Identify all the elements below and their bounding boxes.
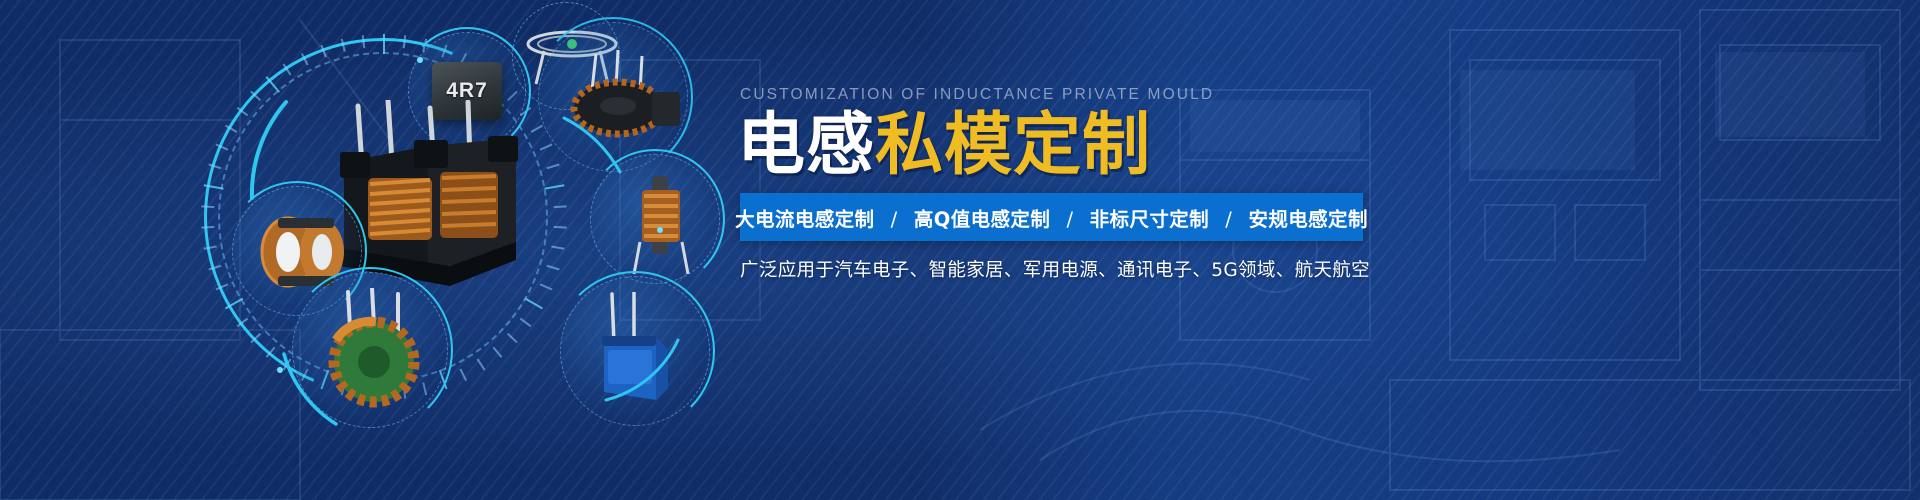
service-item-1[interactable]: 高Q值电感定制 — [914, 208, 1050, 231]
service-item-2[interactable]: 非标尺寸定制 — [1090, 208, 1209, 231]
services-bar[interactable]: 大电流电感定制 / 高Q值电感定制 / 非标尺寸定制 / 安规电感定制 — [740, 193, 1363, 241]
tech-accent-arcs — [160, 0, 720, 500]
service-separator-1: / — [1057, 208, 1082, 231]
banner-description: 广泛应用于汽车电子、智能家居、军用电源、通讯电子、5G领域、航天航空 — [740, 256, 1370, 282]
headline-gold-part: 私模定制 — [875, 106, 1151, 185]
banner-eyebrow-english: CUSTOMIZATION OF INDUCTANCE PRIVATE MOUL… — [740, 86, 1214, 104]
banner-text-content: CUSTOMIZATION OF INDUCTANCE PRIVATE MOUL… — [737, 0, 1437, 500]
service-separator-2: / — [1216, 208, 1241, 231]
services-bar-text: 大电流电感定制 / 高Q值电感定制 / 非标尺寸定制 / 安规电感定制 — [735, 203, 1368, 232]
service-item-3[interactable]: 安规电感定制 — [1248, 208, 1367, 231]
headline-white-part: 电感 — [737, 106, 875, 185]
service-separator-0: / — [882, 208, 907, 231]
banner-headline: 电感私模定制 — [737, 110, 1151, 182]
promo-banner: 4R7 — [0, 0, 1920, 500]
product-image-cluster: 4R7 — [160, 0, 720, 500]
service-item-0[interactable]: 大电流电感定制 — [735, 208, 874, 231]
